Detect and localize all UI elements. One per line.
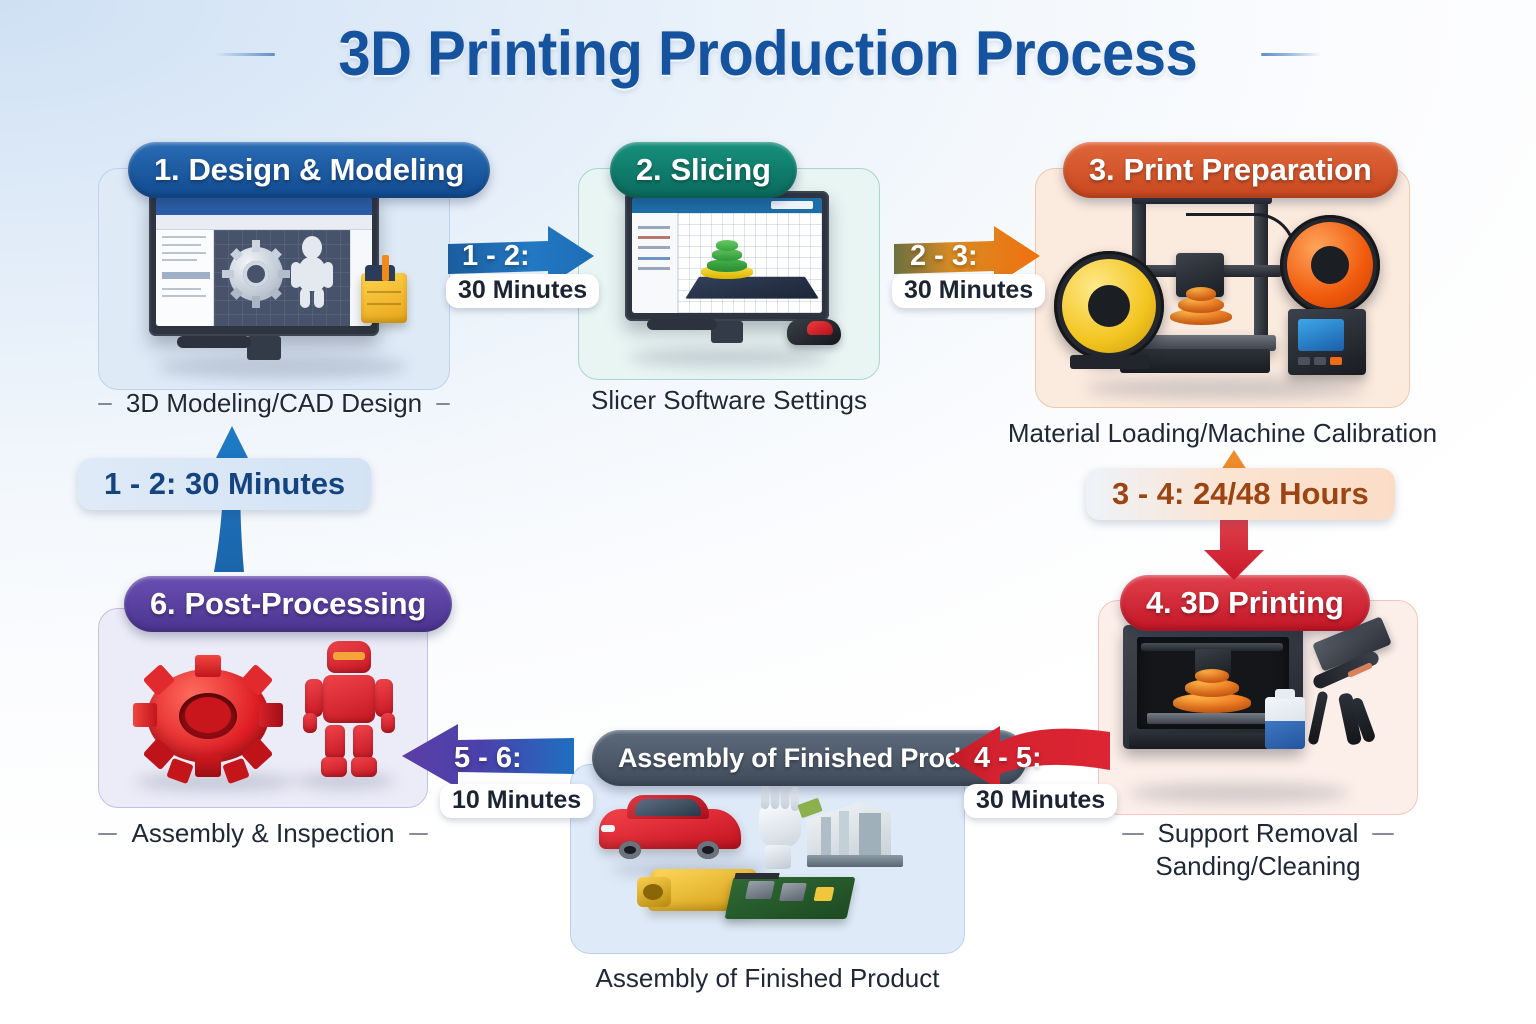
badge-post-processing[interactable]: 6. Post-Processing	[124, 576, 452, 632]
connector-sublabel: 30 Minutes	[446, 274, 599, 308]
connector-label: 2 - 3:	[910, 240, 978, 273]
connector-6-1-label: 1 - 2: 30 Minutes	[78, 458, 371, 510]
badge-design-modeling[interactable]: 1. Design & Modeling	[128, 142, 490, 198]
panel-print-preparation[interactable]	[1035, 168, 1410, 408]
connector-sublabel: 30 Minutes	[892, 274, 1045, 308]
robotic-hand-icon	[759, 805, 801, 847]
caption-post-processing: Assembly & Inspection	[98, 818, 428, 849]
caption-text: Support Removal	[1158, 818, 1359, 849]
connector-sublabel: 30 Minutes	[964, 784, 1117, 818]
caption-dash-right	[1372, 833, 1394, 835]
caption-text-2: Sanding/Cleaning	[1155, 851, 1360, 882]
badge-label: Design & Modeling	[188, 152, 464, 188]
title-dash-right	[1261, 53, 1321, 56]
infographic-canvas: 3D Printing Production Process	[0, 0, 1536, 1024]
badge-print-preparation[interactable]: 3. Print Preparation	[1063, 142, 1398, 198]
connector-4-5: 4 - 5: 30 Minutes	[938, 718, 1118, 828]
red-robot-icon	[297, 641, 401, 779]
illustration-3d-printer-loading	[1036, 169, 1409, 407]
caption-dash-left	[98, 403, 112, 405]
page-title: 3D Printing Production Process	[339, 18, 1198, 90]
caption-text: Assembly of Finished Product	[596, 963, 940, 994]
title-block: 3D Printing Production Process	[0, 18, 1536, 90]
caption-assembly-finished-product: Assembly of Finished Product	[570, 963, 965, 994]
tweezers-icon	[1307, 691, 1328, 746]
human-model-icon	[290, 236, 334, 308]
panel-post-processing[interactable]	[98, 608, 428, 808]
caption-dash-right	[436, 403, 450, 405]
badge-label: Slicing	[670, 152, 770, 188]
filament-spool-orange	[1280, 215, 1380, 315]
badge-number: 3.	[1089, 152, 1114, 188]
connector-label-text: 3 - 4: 24/48 Hours	[1112, 476, 1369, 512]
panel-3d-printing[interactable]	[1098, 600, 1418, 815]
red-gear-icon	[133, 655, 283, 777]
caption-slicing: Slicer Software Settings	[578, 385, 880, 416]
badge-number: 6.	[150, 586, 175, 622]
illustration-printing-and-tools	[1099, 601, 1417, 814]
caption-dash-right	[409, 833, 428, 835]
illustration-cad-workstation	[99, 169, 449, 389]
badge-number: 2.	[636, 152, 661, 188]
connector-label-text: 1 - 2: 30 Minutes	[104, 466, 345, 502]
connector-label: 5 - 6:	[454, 742, 522, 775]
illustration-postprocessed-parts	[99, 609, 427, 807]
connector-sublabel: 10 Minutes	[440, 784, 593, 818]
connector-3-4-label: 3 - 4: 24/48 Hours	[1086, 468, 1395, 520]
caption-dash-left	[98, 833, 117, 835]
panel-design-modeling[interactable]	[98, 168, 450, 390]
badge-label: Post-Processing	[184, 586, 426, 622]
caption-text: Assembly & Inspection	[131, 818, 394, 849]
panel-assembly-finished-product[interactable]	[570, 764, 965, 954]
connector-label: 4 - 5:	[974, 742, 1042, 775]
connector-label: 1 - 2:	[462, 240, 530, 273]
caption-text: Slicer Software Settings	[591, 385, 867, 416]
badge-number: 4.	[1146, 585, 1171, 621]
caption-dash-left	[1122, 833, 1144, 835]
badge-slicing[interactable]: 2. Slicing	[610, 142, 797, 198]
badge-number: 1.	[154, 152, 179, 188]
illustration-slicer-workstation	[579, 169, 879, 379]
badge-label: Print Preparation	[1123, 152, 1371, 188]
connector-2-3: 2 - 3: 30 Minutes	[890, 222, 1050, 322]
badge-label: 3D Printing	[1180, 585, 1343, 621]
printer-lcd-screen	[1298, 319, 1344, 351]
caption-line-1: Support Removal	[1122, 818, 1395, 849]
caption-3d-printing: Support Removal Sanding/Cleaning	[1098, 818, 1418, 882]
title-dash-left	[215, 53, 275, 56]
connector-1-2: 1 - 2: 30 Minutes	[444, 222, 604, 322]
connector-5-6: 5 - 6: 10 Minutes	[392, 718, 582, 828]
panel-slicing[interactable]	[578, 168, 880, 380]
illustration-finished-products	[571, 765, 964, 953]
filament-spool-yellow	[1054, 251, 1164, 361]
